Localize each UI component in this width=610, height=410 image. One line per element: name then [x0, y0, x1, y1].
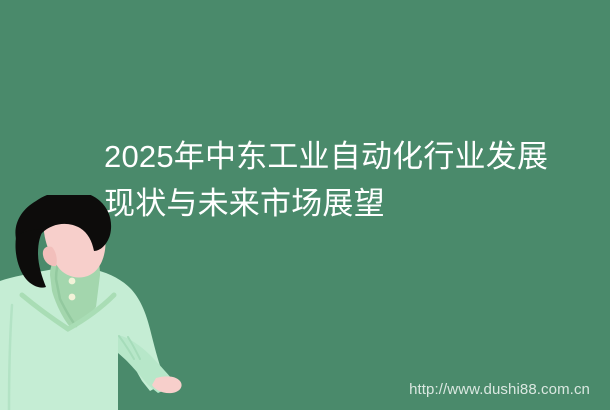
page-title: 2025年中东工业自动化行业发展现状与未来市场展望: [104, 133, 556, 227]
hand-shape: [152, 376, 182, 393]
collar-shape: [22, 247, 114, 329]
collar-buttons: [69, 278, 76, 301]
person-looking-up-illustration: [0, 195, 210, 410]
face-shape: [43, 207, 106, 278]
article-cover-image: 2025年中东工业自动化行业发展现状与未来市场展望: [0, 0, 610, 410]
sweater-shape: [0, 269, 176, 410]
neck-shape: [55, 245, 96, 285]
hair-shape: [15, 195, 111, 288]
watermark-url: http://www.dushi88.com.cn: [409, 381, 590, 398]
